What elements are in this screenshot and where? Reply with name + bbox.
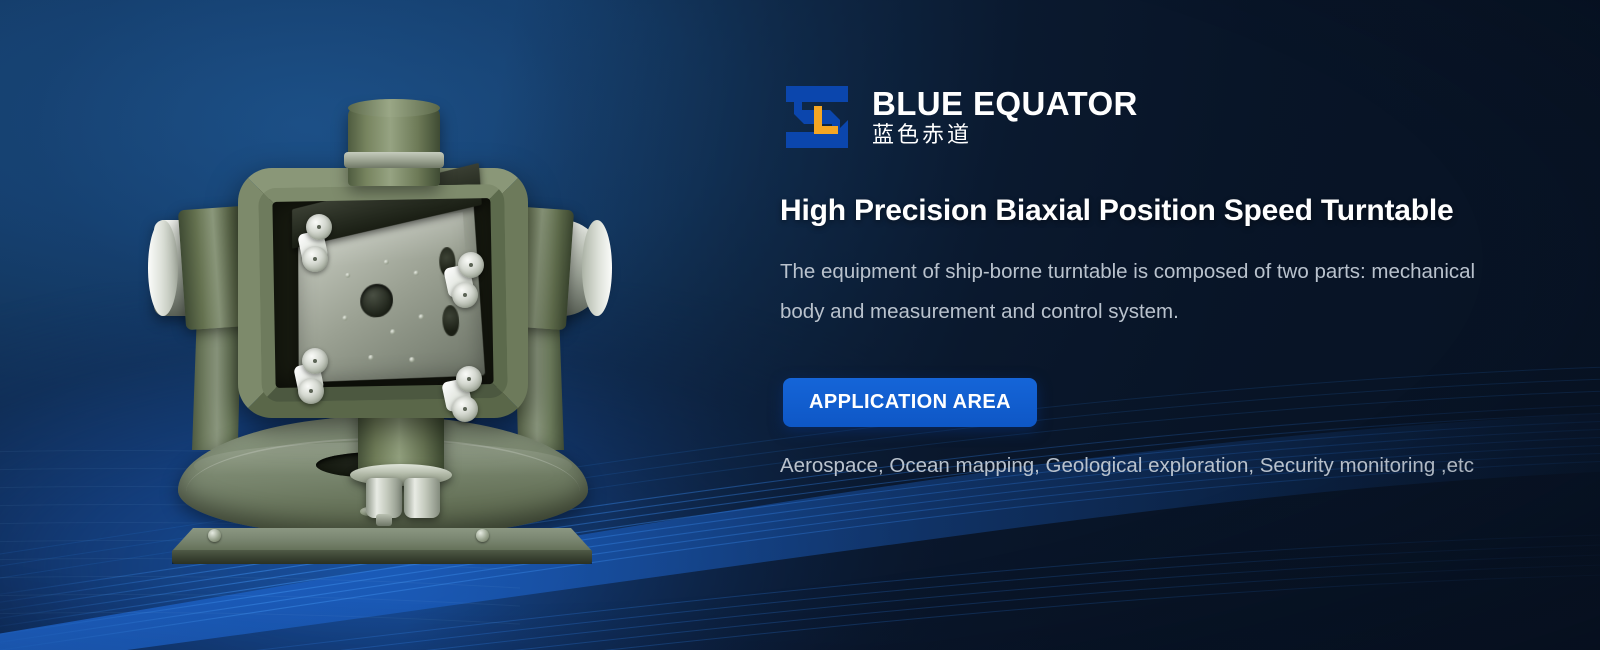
product-banner: BLUE EQUATOR 蓝色赤道 High Precision Biaxial…	[0, 0, 1600, 650]
vignette-overlay	[0, 0, 1600, 650]
